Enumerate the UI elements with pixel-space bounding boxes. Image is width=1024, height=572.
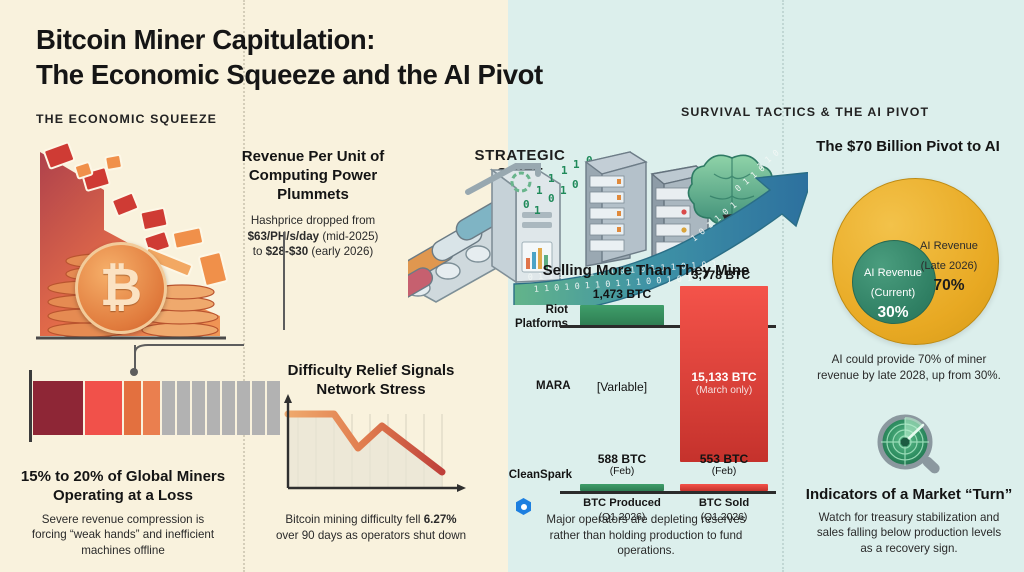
segment-ok-3 <box>192 381 205 435</box>
difficulty-caption: Bitcoin mining difficulty fell 6.27% ove… <box>255 512 487 543</box>
hashprice-old-period: (mid-2025) <box>319 230 378 243</box>
svg-text:0: 0 <box>572 178 579 191</box>
miners-bar-axis <box>29 370 32 442</box>
miners-loss-heading-line-1: 15% to 20% of Global Miners <box>14 468 232 487</box>
segment-ok-5 <box>222 381 235 435</box>
segment-loss-deep <box>33 381 83 435</box>
title-line-1: Bitcoin Miner Capitulation: <box>36 22 676 57</box>
svg-text:0: 0 <box>548 192 555 205</box>
segment-ok-2 <box>177 381 190 435</box>
market-turn-line-1: Watch for treasury stabilization and <box>794 510 1024 526</box>
radar-magnifier-icon <box>873 412 945 484</box>
market-turn-heading: Indicators of a Market “Turn” <box>794 486 1024 505</box>
hashprice-heading-line-1: Revenue Per Unit of <box>218 148 408 167</box>
svg-text:1: 1 <box>560 184 567 197</box>
cleanspark-produced-note: (Feb) <box>576 466 668 477</box>
difficulty-chart-svg <box>272 392 468 504</box>
market-turn-body: Watch for treasury stabilization and sal… <box>794 510 1024 557</box>
hashprice-body-line-1: Hashprice dropped from <box>218 213 408 229</box>
current-line-2: (Current) <box>871 287 915 299</box>
segment-ok-1 <box>162 381 175 435</box>
miners-loss-body-line-2: forcing “weak hands” and inefficient <box>14 527 232 543</box>
footer-sold-label: BTC Sold <box>699 497 749 509</box>
bar-riot-produced <box>580 305 664 326</box>
miners-loss-body: Severe revenue compression is forcing “w… <box>14 512 232 559</box>
cleanspark-sold-value: 553 BTC (Feb) <box>672 452 776 477</box>
segment-ok-6 <box>237 381 250 435</box>
svg-text:1: 1 <box>573 158 580 171</box>
cleanspark-baseline-axis <box>560 491 776 494</box>
svg-text:1: 1 <box>534 204 541 217</box>
pivot-caption-line-2: revenue by late 2028, up from 30%. <box>798 368 1020 384</box>
current-line-1: AI Revenue <box>864 267 922 279</box>
hashprice-new-period: (early 2026) <box>308 245 373 258</box>
cleanspark-produced-amount: 588 BTC <box>598 452 646 466</box>
bar-cleanspark-produced <box>580 484 664 491</box>
miners-loss-callout: 15% to 20% of Global Miners Operating at… <box>14 468 232 558</box>
miners-bar-leader-dot <box>130 368 138 376</box>
late-2026-line-1: AI Revenue <box>920 240 978 252</box>
mara-produced-value: [Varlable] <box>576 380 668 394</box>
segment-ok-4 <box>207 381 220 435</box>
svg-text:1: 1 <box>561 164 568 177</box>
cleanspark-produced-value: 588 BTC (Feb) <box>576 452 668 477</box>
mara-sold-note: (March only) <box>670 385 778 397</box>
row-label-cleanspark: CleanSpark <box>502 469 572 483</box>
server-rack-icon <box>586 152 646 266</box>
hashprice-body-line-3: to $28-$30 (early 2026) <box>218 244 408 260</box>
market-turn-line-2: sales falling below production levels <box>794 525 1024 541</box>
hashprice-to-word: to <box>253 245 266 258</box>
difficulty-heading-line-1: Difficulty Relief Signals <box>262 362 480 381</box>
ai-revenue-nested-circles: AI Revenue (Late 2026) 70% AI Revenue (C… <box>832 178 997 343</box>
label-ai-revenue-current: AI Revenue (Current) 30% <box>850 262 936 323</box>
miners-loss-body-line-1: Severe revenue compression is <box>14 512 232 528</box>
title-line-2: The Economic Squeeze and the AI Pivot <box>36 57 676 92</box>
infographic-canvas: Bitcoin Miner Capitulation: The Economic… <box>0 0 1024 572</box>
difficulty-pct-value: 6.27% <box>424 513 457 526</box>
pivot-heading: The $70 Billion Pivot to AI <box>795 138 1021 157</box>
segment-loss-high <box>85 381 122 435</box>
miners-bar-leader-curve <box>134 344 244 354</box>
difficulty-body-pre: Bitcoin mining difficulty fell <box>285 513 423 526</box>
market-turn-line-3: as a recovery sign. <box>794 541 1024 557</box>
row-label-mara-text: MARA <box>536 380 571 392</box>
difficulty-line-chart <box>272 392 468 504</box>
hashprice-heading-line-2: Computing Power Plummets <box>218 167 408 205</box>
riot-sold-value: 3,778 BTC <box>668 268 774 282</box>
bar-cleanspark-sold <box>680 484 768 491</box>
cleanspark-sold-note: (Feb) <box>672 466 776 477</box>
segment-loss-mid-b <box>143 381 160 435</box>
section-kicker-economic-squeeze: THE ECONOMIC SQUEEZE <box>36 112 217 126</box>
miners-loss-body-line-3: machines offline <box>14 543 232 559</box>
section-kicker-survival-tactics: SURVIVAL TACTICS & THE AI PIVOT <box>681 105 929 119</box>
riot-produced-value: 1,473 BTC <box>576 287 668 301</box>
hashprice-leader-line <box>283 232 285 330</box>
selling-caption-line-2: rather than holding production to fund <box>512 528 780 544</box>
selling-caption-line-1: Major operators are depleting reserves <box>512 512 780 528</box>
current-pct: 30% <box>850 303 936 323</box>
footer-produced-label: BTC Produced <box>583 497 661 509</box>
segment-loss-mid-a <box>124 381 141 435</box>
mara-sold-value: 15,133 BTC (March only) <box>670 370 778 397</box>
difficulty-body-line-1: Bitcoin mining difficulty fell 6.27% <box>255 512 487 528</box>
selling-chart-caption: Major operators are depleting reserves r… <box>512 512 780 559</box>
pivot-caption-line-1: AI could provide 70% of miner <box>798 352 1020 368</box>
row-label-riot-line-1: Riot <box>510 304 568 318</box>
difficulty-body-line-2: over 90 days as operators shut down <box>255 528 487 544</box>
declining-revenue-illustration: ₿ <box>30 138 230 353</box>
bitcoin-coin-icon: ₿ <box>75 242 167 334</box>
mara-sold-amount: 15,133 BTC <box>691 370 756 384</box>
hashprice-body-line-2: $63/PH/s/day (mid-2025) <box>218 229 408 245</box>
miners-loss-heading: 15% to 20% of Global Miners Operating at… <box>14 468 232 506</box>
svg-text:0: 0 <box>523 198 530 211</box>
miners-loss-heading-line-2: Operating at a Loss <box>14 487 232 506</box>
hashprice-callout: Revenue Per Unit of Computing Power Plum… <box>218 148 408 260</box>
selling-caption-line-3: operations. <box>512 543 780 559</box>
selling-more-than-they-mine-chart: Riot Platforms 1,473 BTC 3,778 BTC MARA … <box>512 262 780 512</box>
hashprice-new-price: $28-$30 <box>266 245 309 258</box>
page-title: Bitcoin Miner Capitulation: The Economic… <box>36 22 676 92</box>
cleanspark-sold-amount: 553 BTC <box>700 452 748 466</box>
hashprice-body: Hashprice dropped from $63/PH/s/day (mid… <box>218 213 408 260</box>
hashprice-heading: Revenue Per Unit of Computing Power Plum… <box>218 148 408 204</box>
radar-magnifier-svg <box>873 412 945 484</box>
svg-text:1: 1 <box>548 172 555 185</box>
global-miners-segmented-bar <box>33 381 280 435</box>
market-turn-callout: Indicators of a Market “Turn” Watch for … <box>794 486 1024 556</box>
svg-text:1: 1 <box>536 184 543 197</box>
pivot-caption: AI could provide 70% of miner revenue by… <box>798 352 1020 383</box>
